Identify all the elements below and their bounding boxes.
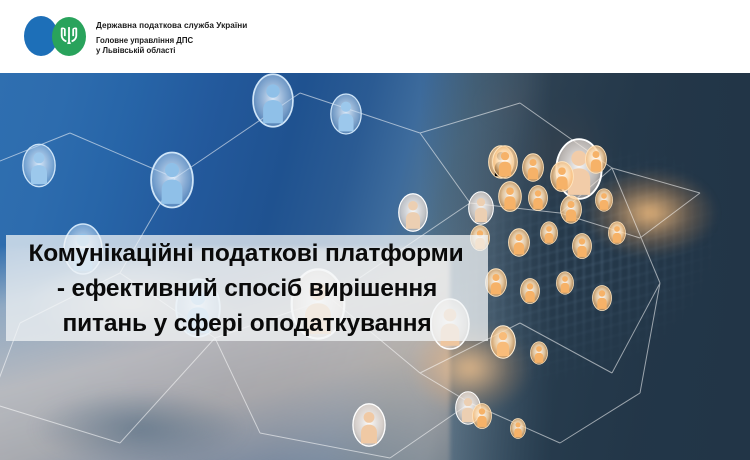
agency-name-block: Державна податкова служба України Головн… <box>96 18 247 55</box>
hero-image: Комунікаційні податкові платформи - ефек… <box>0 73 750 460</box>
slide-root: Державна податкова служба України Головн… <box>0 0 750 460</box>
header-bar: Державна податкова служба України Головн… <box>0 0 750 73</box>
agency-title: Державна податкова служба України <box>96 20 247 31</box>
ukrainian-trident-icon <box>60 25 78 47</box>
agency-subtitle-line2: у Львівській області <box>96 46 247 56</box>
title-line-1: Комунікаційні податкові платформи <box>29 236 464 271</box>
network-node-group-warm <box>471 146 626 439</box>
title-line-3: питань у сфері оподаткування <box>62 306 431 341</box>
agency-subtitle-line1: Головне управління ДПС <box>96 36 247 46</box>
agency-logo <box>24 16 86 58</box>
title-line-2: - ефективний спосіб вирішення <box>57 271 437 306</box>
title-panel: Комунікаційні податкові платформи - ефек… <box>6 235 488 341</box>
